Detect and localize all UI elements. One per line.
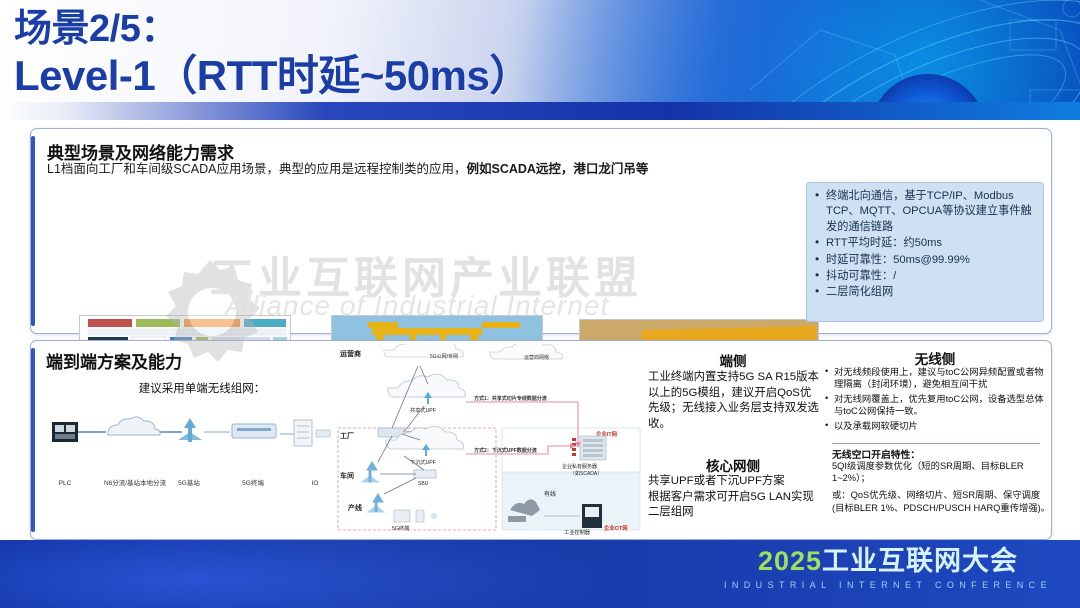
bullet-item: 二层简化组网 [813, 285, 1035, 300]
svg-text:产线: 产线 [348, 503, 362, 512]
title-line-1: 场景2/5： [14, 6, 531, 52]
wireless-divider [832, 443, 1040, 444]
card-accent-bar [31, 348, 35, 532]
slide-root: 场景2/5： Level-1（RTT时延~50ms） 典型场景及网络能力需求 L… [0, 0, 1080, 608]
air-interface-feature-body: 5QI级调度参数优化（短的SR周期、目标BLER 1~2%）； 或：QoS优先级… [832, 460, 1050, 519]
svg-text:5G终端: 5G终端 [392, 524, 409, 532]
bullet-item: 终端北向通信，基于TCP/IP、Modbus TCP、MQTT、OPCUA等协议… [813, 189, 1035, 235]
svg-text:有线: 有线 [544, 490, 556, 498]
wireless-side-bullets: 对无线频段使用上，建议与toC公网异频配置或者物理隔离（封闭环境），避免相互间干… [824, 366, 1048, 434]
node-label-n6-offload: N6分流/基站本地分流 [102, 480, 168, 488]
svg-text:5G公网/专网: 5G公网/专网 [430, 353, 458, 360]
slide-header: 场景2/5： Level-1（RTT时延~50ms） [0, 0, 1080, 120]
terminal-side-title: 端侧 [648, 350, 818, 370]
feature-paragraph-2: 或：QoS优先级、网络切片、短SR周期、保守调度(目标BLER 1%、PDSCH… [832, 489, 1050, 513]
svg-text:企业OT网: 企业OT网 [604, 524, 628, 532]
network-capability-bullets: 终端北向通信，基于TCP/IP、Modbus TCP、MQTT、OPCUA等协议… [806, 182, 1044, 322]
single-end-wireless-diagram: 建议采用单端无线组网： [44, 380, 334, 530]
air-interface-feature-title: 无线空口开启特性： [832, 447, 1047, 461]
wireless-bullet: 对无线网覆盖上，优先复用toC公网，设备选型总体与toC公网保持一致。 [824, 393, 1048, 418]
conference-logo: 2025工业互联网大会 INDUSTRIAL INTERNET CONFEREN… [724, 548, 1052, 590]
card-accent-bar [31, 136, 35, 326]
top-card-subtitle: L1档面向工厂和车间级SCADA应用场景，典型的应用是远程控制类的应用，例如SC… [47, 161, 1027, 178]
conference-name-cn: 工业互联网大会 [822, 546, 1018, 576]
wireless-side-title: 无线侧 [824, 348, 1046, 368]
bullet-item: 时延可靠性：50ms@99.99% [813, 253, 1035, 268]
bottom-card-title: 端到端方案及能力 [46, 348, 182, 373]
left-diagram-caption: 建议采用单端无线组网： [92, 380, 312, 396]
svg-text:方式1：共享式切片专线数据分流: 方式1：共享式切片专线数据分流 [474, 395, 547, 402]
conference-logo-main: 2025工业互联网大会 [724, 548, 1052, 575]
svg-text:工厂: 工厂 [340, 432, 354, 440]
svg-text:运营商: 运营商 [340, 349, 361, 358]
svg-text:企业私有服务器: 企业私有服务器 [562, 463, 597, 470]
footer-glow [0, 540, 648, 608]
svg-text:（如SCADA）: （如SCADA） [570, 470, 602, 477]
wireless-bullet: 以及承载网软硬切片 [824, 420, 1048, 432]
page-title: 场景2/5： Level-1（RTT时延~50ms） [14, 6, 531, 100]
node-label-plc: PLC [38, 480, 92, 488]
bullet-item: 抖动可靠性：/ [813, 269, 1035, 284]
node-label-5g-terminal: 5G终端 [226, 480, 280, 488]
svg-text:工业控制器: 工业控制器 [564, 528, 591, 536]
terminal-side-body: 工业终端内置支持5G SA R15版本以上的5G模组，建议开启QoS优先级；无线… [648, 370, 820, 432]
svg-text:运营商网络: 运营商网络 [524, 354, 549, 361]
conference-name-en: INDUSTRIAL INTERNET CONFERENCE [724, 581, 1052, 590]
node-label-gnb: 5G基站 [162, 480, 216, 488]
svg-text:车间: 车间 [340, 471, 354, 480]
conference-year: 2025 [758, 546, 822, 576]
slide-footer: 2025工业互联网大会 INDUSTRIAL INTERNET CONFEREN… [0, 540, 1080, 608]
bullet-list: 终端北向通信，基于TCP/IP、Modbus TCP、MQTT、OPCUA等协议… [813, 189, 1035, 301]
network-topology-diagram: 5G公网/专网 运营商网络 运营商 共享式UPF 工厂 车间 产线 STN-A … [332, 344, 644, 536]
core-network-side-title: 核心网侧 [648, 455, 818, 475]
feature-paragraph-1: 5QI级调度参数优化（短的SR周期、目标BLER 1~2%）； [832, 460, 1050, 484]
core-network-side-body: 共享UPF或者下沉UPF方案 根据客户需求可开启5G LAN实现二层组网 [648, 474, 820, 521]
title-line-2: Level-1（RTT时延~50ms） [14, 52, 531, 100]
bullet-item: RTT平均时延：约50ms [813, 236, 1035, 251]
header-bottom-bar [0, 102, 1080, 120]
subtitle-bold: 例如SCADA远控，港口龙门吊等 [466, 162, 648, 176]
svg-text:方式2：下沉式UPF数据分流: 方式2：下沉式UPF数据分流 [474, 447, 537, 454]
svg-text:下沉式UPF: 下沉式UPF [410, 458, 436, 466]
wireless-bullet: 对无线频段使用上，建议与toC公网异频配置或者物理隔离（封闭环境），避免相互间干… [824, 366, 1048, 391]
subtitle-normal: L1档面向工厂和车间级SCADA应用场景，典型的应用是远程控制类的应用， [47, 162, 466, 176]
svg-text:SBU: SBU [418, 481, 429, 487]
